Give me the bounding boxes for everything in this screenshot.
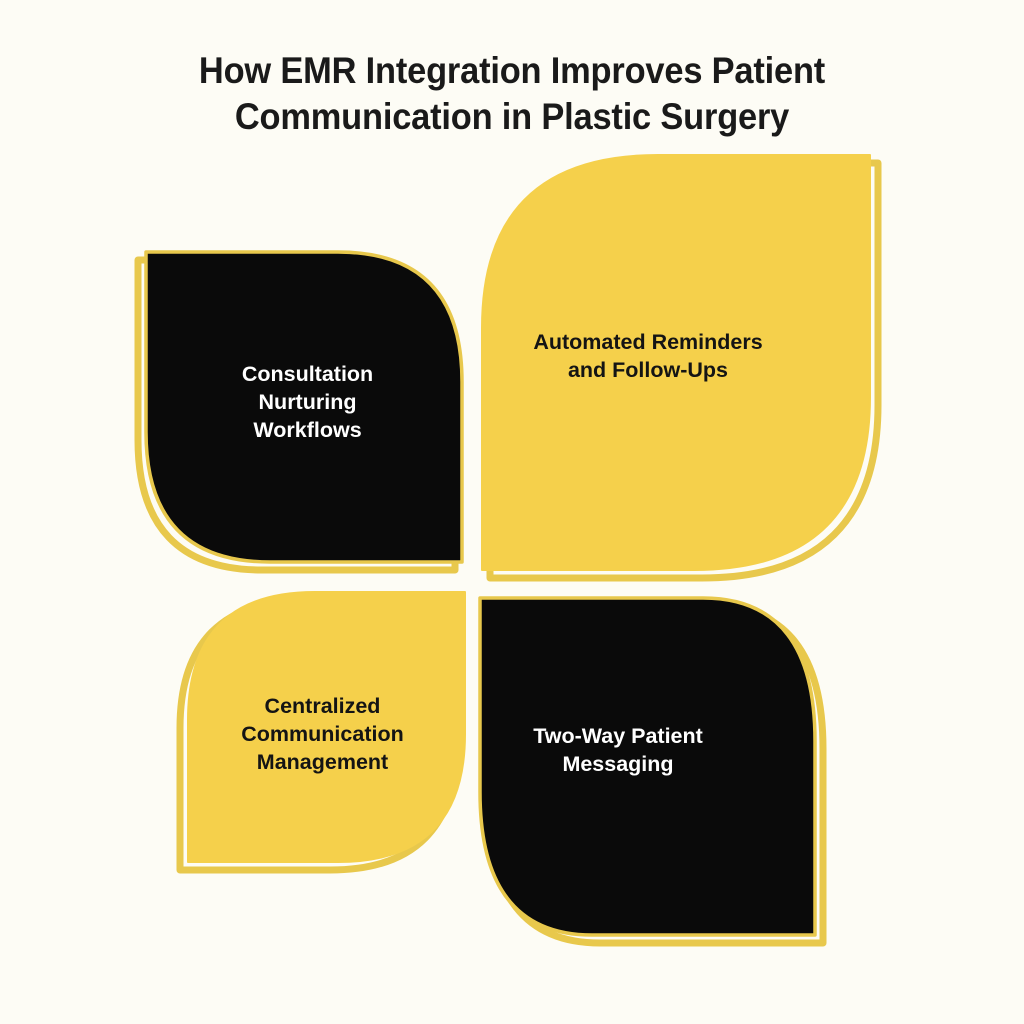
petal-svg <box>0 0 1024 1024</box>
petal-bottom-left[interactable] <box>188 592 465 862</box>
petal-bottom-right[interactable] <box>480 598 815 935</box>
page-title: How EMR Integration Improves Patient Com… <box>0 48 1024 140</box>
petal-top-right[interactable] <box>482 155 870 570</box>
petal-top-left[interactable] <box>146 252 462 562</box>
petal-diagram <box>0 0 1024 1024</box>
title-line-1: How EMR Integration Improves Patient <box>36 48 988 94</box>
title-line-2: Communication in Plastic Surgery <box>36 94 988 140</box>
infographic-canvas: How EMR Integration Improves Patient Com… <box>0 0 1024 1024</box>
